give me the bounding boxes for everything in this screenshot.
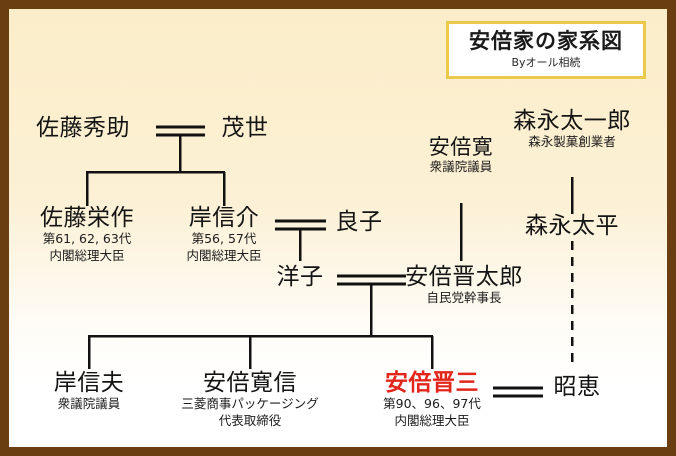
person-morinaga-taichiro[interactable]: 森永太一郎 森永製菓創業者 bbox=[498, 109, 646, 150]
person-title-line-2: 代表取締役 bbox=[158, 413, 342, 429]
person-name: 森永太一郎 bbox=[498, 109, 646, 133]
person-title-line-1: 第61, 62, 63代 bbox=[17, 231, 157, 247]
person-title: 自民党幹事長 bbox=[402, 290, 526, 306]
person-title-line-1: 第56, 57代 bbox=[161, 231, 287, 247]
person-name: 岸信夫 bbox=[22, 371, 156, 395]
person-abe-shinzo[interactable]: 安倍晋三 第90、96、97代 内閣総理大臣 bbox=[359, 371, 505, 429]
person-title-line-2: 内閣総理大臣 bbox=[17, 248, 157, 264]
family-tree-frame: 安倍家の家系図 Byオール相続 佐藤秀助 茂世 佐藤栄作 第61, 62, 63… bbox=[0, 0, 676, 456]
person-title: 衆議院議員 bbox=[406, 159, 516, 175]
person-title-line-2: 内閣総理大臣 bbox=[359, 413, 505, 429]
person-morinaga-tahei[interactable]: 森永太平 bbox=[510, 214, 634, 238]
person-name: 安倍晋三 bbox=[359, 371, 505, 395]
person-akie[interactable]: 昭恵 bbox=[542, 375, 612, 399]
person-name: 昭恵 bbox=[542, 375, 612, 399]
person-yoko[interactable]: 洋子 bbox=[267, 265, 333, 289]
person-name: 安倍寛信 bbox=[158, 371, 342, 395]
person-sato-eisaku[interactable]: 佐藤栄作 第61, 62, 63代 内閣総理大臣 bbox=[17, 206, 157, 264]
title-card: 安倍家の家系図 Byオール相続 bbox=[446, 21, 646, 79]
person-title: 森永製菓創業者 bbox=[498, 134, 646, 150]
person-name: 洋子 bbox=[267, 265, 333, 289]
person-name: 岸信介 bbox=[161, 206, 287, 230]
person-abe-shintaro[interactable]: 安倍晋太郎 自民党幹事長 bbox=[402, 265, 526, 306]
person-name: 良子 bbox=[326, 210, 392, 234]
person-name: 佐藤秀助 bbox=[13, 116, 153, 140]
person-name: 安倍晋太郎 bbox=[402, 265, 526, 289]
person-title-line-1: 三菱商事パッケージング bbox=[158, 396, 342, 412]
person-name: 森永太平 bbox=[510, 214, 634, 238]
person-shigeyo[interactable]: 茂世 bbox=[205, 116, 285, 140]
chart-subtitle: Byオール相続 bbox=[453, 54, 639, 70]
person-name: 佐藤栄作 bbox=[17, 206, 157, 230]
person-abe-hironobu[interactable]: 安倍寛信 三菱商事パッケージング 代表取締役 bbox=[158, 371, 342, 429]
person-kishi-nobuo[interactable]: 岸信夫 衆議院議員 bbox=[22, 371, 156, 412]
person-yoshiko[interactable]: 良子 bbox=[326, 210, 392, 234]
family-tree-canvas: 安倍家の家系図 Byオール相続 佐藤秀助 茂世 佐藤栄作 第61, 62, 63… bbox=[9, 9, 667, 447]
person-title: 衆議院議員 bbox=[22, 396, 156, 412]
person-sato-shusuke[interactable]: 佐藤秀助 bbox=[13, 116, 153, 140]
person-title-line-2: 内閣総理大臣 bbox=[161, 248, 287, 264]
chart-title: 安倍家の家系図 bbox=[453, 29, 639, 53]
person-kishi-nobusuke[interactable]: 岸信介 第56, 57代 内閣総理大臣 bbox=[161, 206, 287, 264]
person-title-line-1: 第90、96、97代 bbox=[359, 396, 505, 412]
person-name: 茂世 bbox=[205, 116, 285, 140]
